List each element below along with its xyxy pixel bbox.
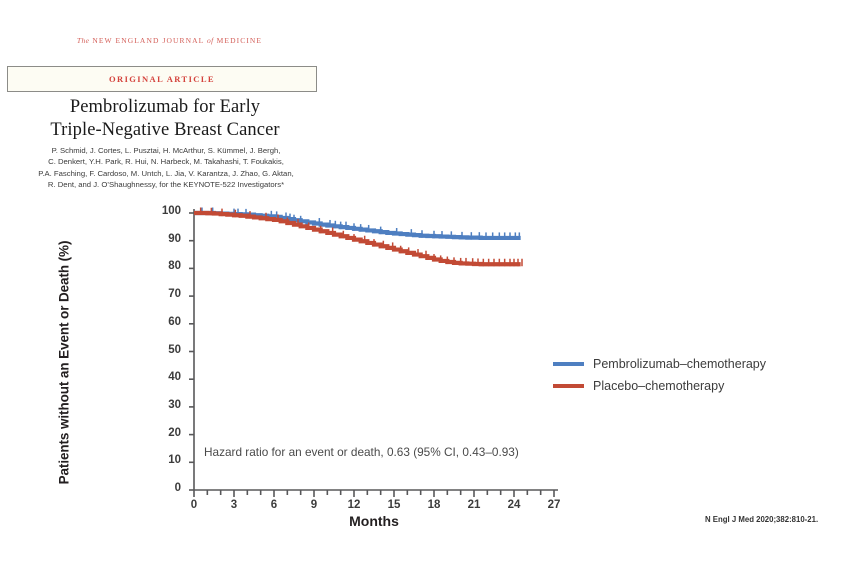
y-tick-label: 40 [155,371,181,383]
y-tick-label: 10 [155,454,181,466]
x-tick-label: 3 [222,499,246,511]
journal-citation: N Engl J Med 2020;382:810-21. [705,515,818,524]
title-line-1: Pembrolizumab for Early [10,96,320,119]
legend-label-placebo: Placebo–chemotherapy [593,379,724,393]
original-article-label: ORIGINAL ARTICLE [109,74,215,84]
survival-curves [194,208,522,267]
legend-swatch-pembrolizumab [553,362,584,366]
masthead-of: of [207,36,214,45]
y-tick-label: 20 [155,427,181,439]
masthead-the: The [77,36,89,45]
author-list: P. Schmid, J. Cortes, L. Pusztai, H. McA… [8,145,324,191]
y-tick-label: 60 [155,316,181,328]
x-tick-label: 21 [462,499,486,511]
curve-pembrolizumab [194,208,521,240]
kaplan-meier-figure: Patients without an Event or Death (%) M… [0,195,852,540]
author-line: P.A. Fasching, F. Cardoso, M. Untch, L. … [8,168,324,179]
y-tick-label: 50 [155,344,181,356]
y-tick-label: 90 [155,233,181,245]
x-tick-label: 12 [342,499,366,511]
x-tick-label: 18 [422,499,446,511]
x-axis-title: Months [194,513,554,529]
masthead-tail: MEDICINE [217,36,262,45]
x-tick-label: 9 [302,499,326,511]
x-tick-label: 15 [382,499,406,511]
legend-item-placebo: Placebo–chemotherapy [553,375,803,397]
y-tick-label: 30 [155,399,181,411]
x-tick-label: 0 [182,499,206,511]
title-line-2: Triple-Negative Breast Cancer [10,119,320,142]
y-tick-label: 0 [155,482,181,494]
masthead-main: NEW ENGLAND JOURNAL [92,36,204,45]
author-line: C. Denkert, Y.H. Park, R. Hui, N. Harbec… [8,156,324,167]
y-tick-label: 70 [155,288,181,300]
author-line: R. Dent, and J. O’Shaughnessy, for the K… [8,179,324,190]
page-title: Pembrolizumab for Early Triple-Negative … [10,96,320,142]
original-article-banner: ORIGINAL ARTICLE [7,66,317,92]
y-tick-label: 80 [155,260,181,272]
x-tick-label: 27 [542,499,566,511]
x-tick-label: 6 [262,499,286,511]
author-line: P. Schmid, J. Cortes, L. Pusztai, H. McA… [8,145,324,156]
legend-item-pembrolizumab: Pembrolizumab–chemotherapy [553,353,803,375]
x-tick-label: 24 [502,499,526,511]
legend-label-pembrolizumab: Pembrolizumab–chemotherapy [593,357,766,371]
y-tick-label: 100 [155,205,181,217]
hazard-ratio-annotation: Hazard ratio for an event or death, 0.63… [204,445,519,459]
y-axis-title: Patients without an Event or Death (%) [57,218,72,508]
chart-legend: Pembrolizumab–chemotherapy Placebo–chemo… [553,353,803,397]
legend-swatch-placebo [553,384,584,388]
journal-masthead: The NEW ENGLAND JOURNAL of MEDICINE [62,36,277,45]
